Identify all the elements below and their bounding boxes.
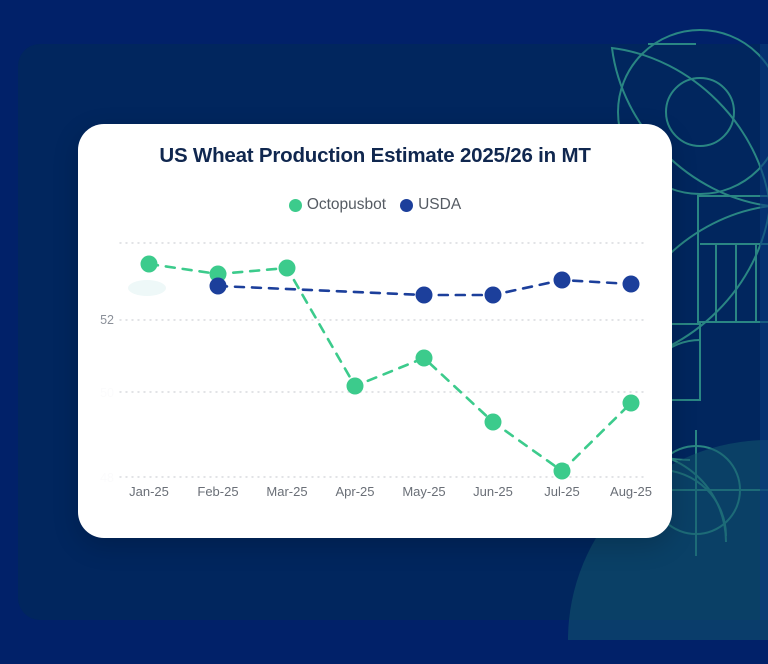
data-point-octopusbot-jul[interactable] — [554, 463, 571, 480]
x-axis-tick-jul: Jul-25 — [527, 484, 597, 499]
x-axis-tick-aug: Aug-25 — [596, 484, 666, 499]
data-point-usda-jun[interactable] — [485, 287, 502, 304]
x-axis-tick-feb: Feb-25 — [183, 484, 253, 499]
data-point-usda-aug[interactable] — [623, 276, 640, 293]
x-axis-tick-mar: Mar-25 — [252, 484, 322, 499]
data-point-octopusbot-aug[interactable] — [623, 395, 640, 412]
data-point-octopusbot-apr[interactable] — [347, 378, 364, 395]
x-axis-tick-may: May-25 — [389, 484, 459, 499]
data-point-octopusbot-jun[interactable] — [485, 414, 502, 431]
data-point-usda-jul[interactable] — [554, 272, 571, 289]
x-axis-tick-jun: Jun-25 — [458, 484, 528, 499]
data-point-usda-may[interactable] — [416, 287, 433, 304]
screenshot-root: US Wheat Production Estimate 2025/26 in … — [0, 0, 768, 664]
chart-card: US Wheat Production Estimate 2025/26 in … — [78, 124, 672, 538]
series-line-octopusbot — [149, 264, 631, 471]
x-axis-tick-apr: Apr-25 — [320, 484, 390, 499]
chart-svg — [78, 124, 672, 538]
data-point-usda-feb[interactable] — [210, 278, 227, 295]
data-point-octopusbot-mar[interactable] — [279, 260, 296, 277]
data-point-octopusbot-may[interactable] — [416, 350, 433, 367]
x-axis-tick-jan: Jan-25 — [114, 484, 184, 499]
chart-plot-area: 50 48 52 — [78, 124, 672, 538]
data-point-octopusbot-jan[interactable] — [141, 256, 158, 273]
